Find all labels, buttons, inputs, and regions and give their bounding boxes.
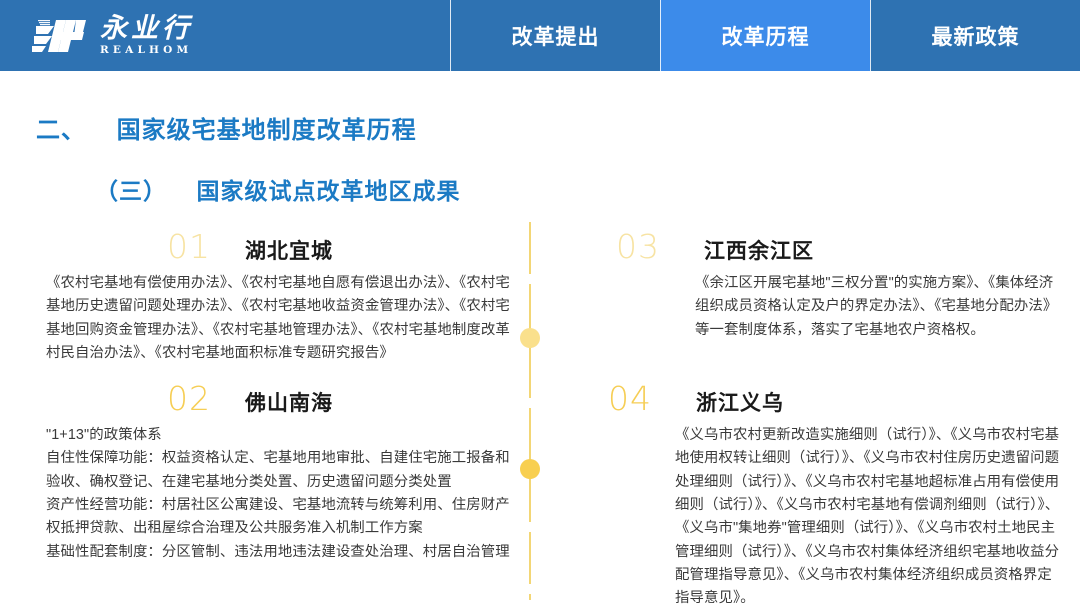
column-divider xyxy=(529,222,531,600)
item-04: 04 浙江义乌 《义乌市农村更新改造实施细则（试行）》、《义乌市农村宅基地使用权… xyxy=(600,382,1060,611)
item-01: 01 湖北宜城 《农村宅基地有偿使用办法》、《农村宅基地自愿有偿退出办法》、《农… xyxy=(46,230,516,365)
item-03-header: 03 江西余江区 xyxy=(600,230,1060,263)
item-03-place: 江西余江区 xyxy=(704,241,814,262)
divider-dashed-line xyxy=(529,222,531,600)
header-tabs: 改革提出 改革历程 最新政策 xyxy=(450,0,1080,71)
app-header: 永业行 REALHOM 改革提出 改革历程 最新政策 xyxy=(0,0,1080,71)
item-02-number: 02 xyxy=(167,382,211,415)
item-04-text: 《义乌市农村更新改造实施细则（试行）》、《义乌市农村宅基地使用权转让细则（试行）… xyxy=(600,424,1060,611)
item-01-number: 01 xyxy=(167,230,211,263)
yh-monogram-icon xyxy=(32,16,88,56)
tab-reform-history[interactable]: 改革历程 xyxy=(660,0,870,71)
item-04-number: 04 xyxy=(608,382,652,415)
brand-name-cn: 永业行 xyxy=(100,15,193,43)
divider-dot-lower xyxy=(520,459,540,479)
brand-wordmark: 永业行 REALHOM xyxy=(100,15,193,56)
tab-reform-proposal[interactable]: 改革提出 xyxy=(450,0,660,71)
tab-latest-policy[interactable]: 最新政策 xyxy=(870,0,1080,71)
brand-logo[interactable]: 永业行 REALHOM xyxy=(0,0,193,71)
item-04-place: 浙江义乌 xyxy=(696,393,784,414)
item-01-text: 《农村宅基地有偿使用办法》、《农村宅基地自愿有偿退出办法》、《农村宅基地历史遗留… xyxy=(46,272,516,365)
page-subtitle: （三） 国家级试点改革地区成果 xyxy=(95,172,461,206)
item-02-text: "1+13"的政策体系 自住性保障功能：权益资格认定、宅基地用地审批、自建住宅施… xyxy=(46,424,516,564)
item-03-text: 《余江区开展宅基地"三权分置"的实施方案》、《集体经济组织成员资格认定及户的界定… xyxy=(600,272,1060,342)
page-title: 二、 国家级宅基地制度改革历程 xyxy=(36,110,417,145)
item-01-header: 01 湖北宜城 xyxy=(46,230,516,263)
item-03-number: 03 xyxy=(616,230,660,263)
item-04-header: 04 浙江义乌 xyxy=(600,382,1060,415)
item-02-place: 佛山南海 xyxy=(245,393,333,414)
brand-name-en: REALHOM xyxy=(100,44,193,56)
item-02: 02 佛山南海 "1+13"的政策体系 自住性保障功能：权益资格认定、宅基地用地… xyxy=(46,382,516,564)
item-03: 03 江西余江区 《余江区开展宅基地"三权分置"的实施方案》、《集体经济组织成员… xyxy=(600,230,1060,342)
divider-dot-upper xyxy=(520,328,540,348)
content-area: 01 湖北宜城 《农村宅基地有偿使用办法》、《农村宅基地自愿有偿退出办法》、《农… xyxy=(0,222,1080,608)
item-02-header: 02 佛山南海 xyxy=(46,382,516,415)
item-01-place: 湖北宜城 xyxy=(245,241,333,262)
